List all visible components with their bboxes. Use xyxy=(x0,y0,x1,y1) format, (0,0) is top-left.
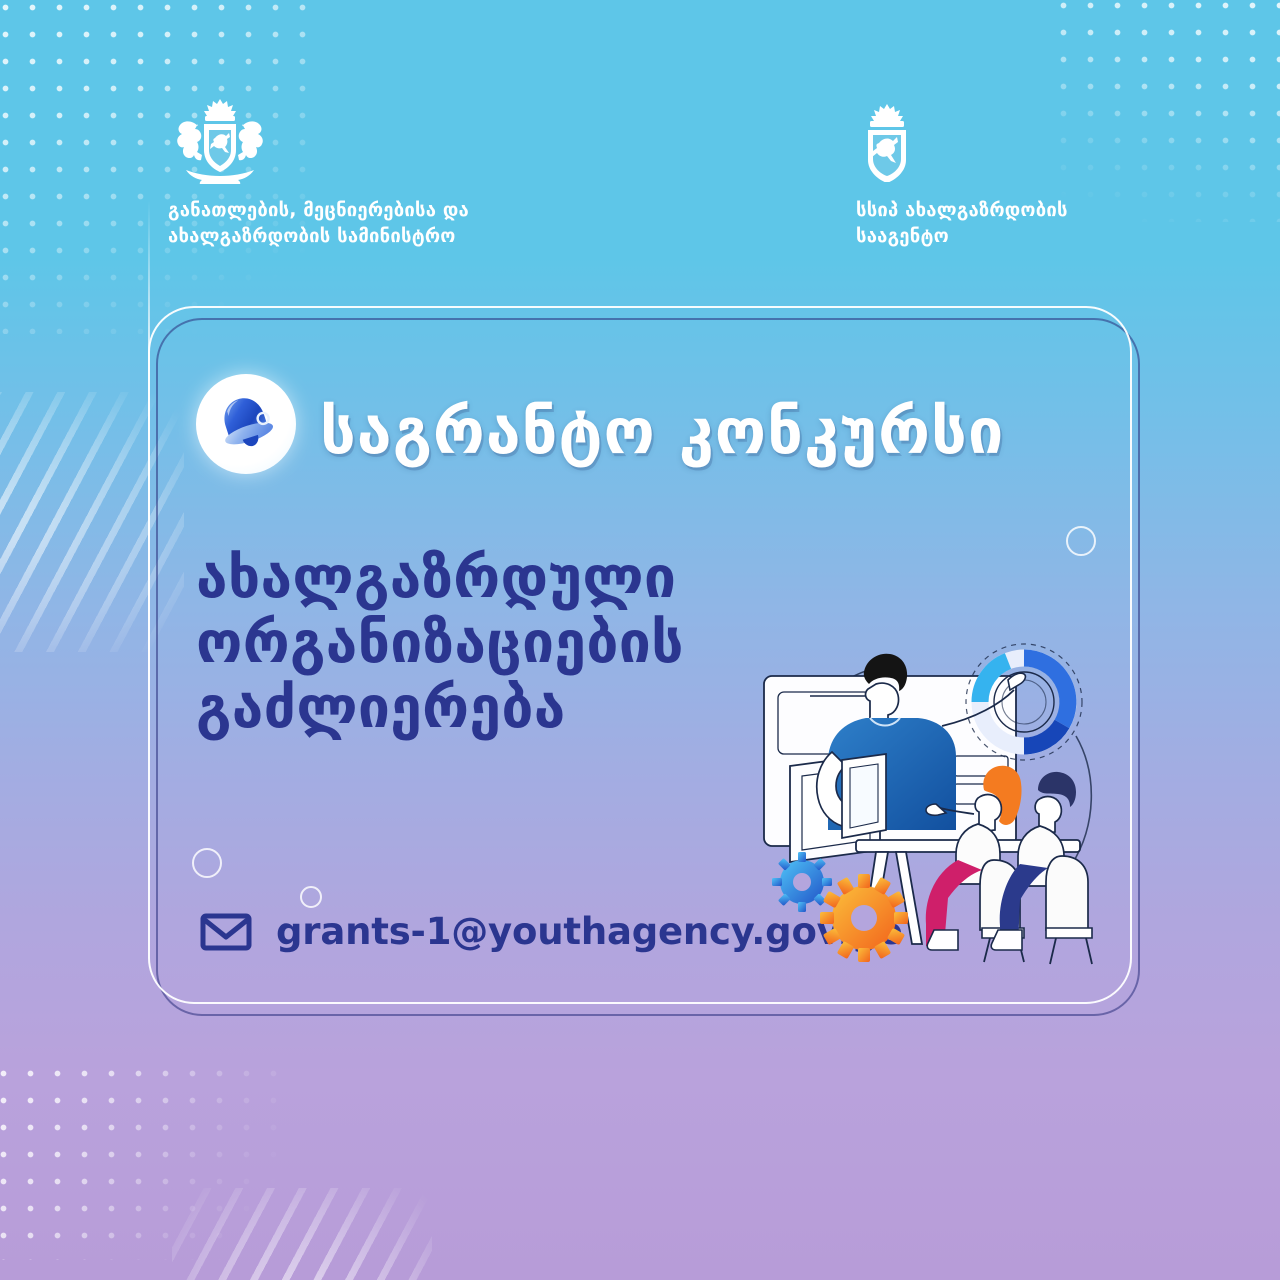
diagonal-stripes-bottom xyxy=(172,1188,432,1280)
ministry-caption: განათლების, მეცნიერებისა და ახალგაზრდობი… xyxy=(168,198,588,251)
agency-logo-block: სსიპ ახალგაზრდობის სააგენტო xyxy=(856,102,1216,251)
georgia-coat-of-arms-icon xyxy=(168,96,272,184)
gear-orange-icon xyxy=(820,874,908,962)
deco-circle-left-small xyxy=(300,886,322,908)
agency-caption: სსიპ ახალგაზრდობის სააგენტო xyxy=(856,198,1216,251)
team-working-at-computer-illustration xyxy=(746,614,1118,974)
gear-blue-icon xyxy=(772,852,832,912)
header-logos: განათლების, მეცნიერებისა და ახალგაზრდობი… xyxy=(0,96,1280,266)
envelope-icon xyxy=(200,912,252,952)
georgia-small-coat-of-arms-icon xyxy=(856,102,918,182)
heading-line-3: გაძლიერება xyxy=(196,676,816,741)
deco-circle-left-lower xyxy=(192,848,222,878)
card-content: საგრანტო კონკურსი ახალგაზრდული ორგანიზაც… xyxy=(148,306,1132,1004)
card-title: საგრანტო კონკურსი xyxy=(320,400,1004,463)
card-heading: ახალგაზრდული ორგანიზაციების გაძლიერება xyxy=(196,546,816,741)
deco-circle-right-upper xyxy=(1066,526,1096,556)
poster-root: განათლების, მეცნიერებისა და ახალგაზრდობი… xyxy=(0,0,1280,1280)
heading-line-1: ახალგაზრდული xyxy=(196,546,816,611)
bell-badge xyxy=(196,374,296,474)
ministry-logo-block: განათლების, მეცნიერებისა და ახალგაზრდობი… xyxy=(168,96,588,251)
bell-icon xyxy=(210,388,282,460)
heading-line-2: ორგანიზაციების xyxy=(196,611,816,676)
